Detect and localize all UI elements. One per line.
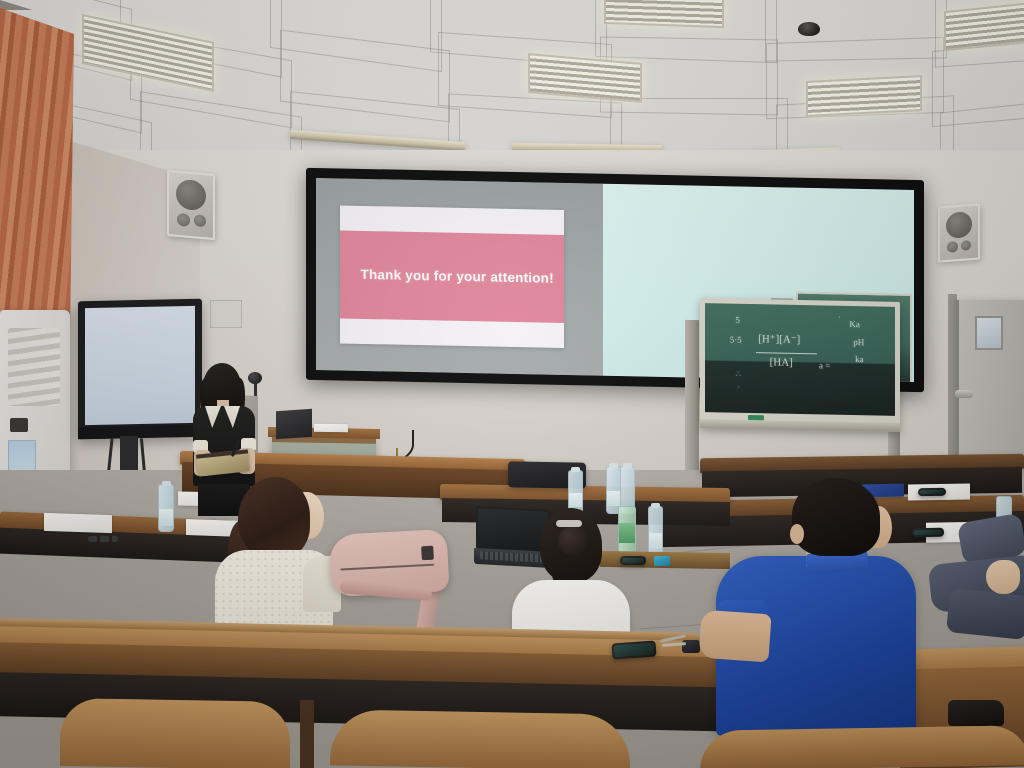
speaker-woofer-icon	[946, 211, 972, 239]
student3-hair	[792, 478, 880, 556]
speaker-tweeter-icon	[177, 213, 190, 227]
phone[interactable]	[611, 640, 656, 659]
water-bottle	[648, 506, 663, 556]
wall-access-panel	[210, 300, 242, 328]
phone[interactable]	[918, 488, 946, 496]
ac-control-panel[interactable]	[10, 418, 28, 432]
bottle-label	[619, 523, 635, 543]
chalk-mark: ∴	[735, 369, 741, 380]
paper	[314, 424, 348, 433]
chalk-text: ka	[855, 354, 864, 364]
chalk-text: 5	[735, 315, 740, 325]
phone[interactable]	[912, 528, 944, 538]
backpack-zipper	[340, 564, 434, 571]
speaker-tweeter-icon	[194, 214, 206, 227]
slide-accent-band: Thank you for your attention!	[340, 231, 564, 323]
wall-speaker	[167, 170, 215, 240]
chalk-text: [HA]	[770, 357, 793, 369]
presentation-slide: Thank you for your attention!	[340, 205, 564, 348]
backpack-tag-icon	[421, 546, 434, 561]
student3-forearm	[698, 610, 771, 663]
phone[interactable]	[620, 556, 646, 565]
paper	[44, 513, 112, 533]
presenter-laptop[interactable]	[276, 409, 312, 440]
student2-hair-bun	[558, 526, 588, 556]
chalk-mark: ·	[838, 312, 841, 321]
whiteboard-display	[85, 306, 195, 425]
seat-back	[330, 709, 630, 768]
chalk-text: Ka	[849, 319, 860, 329]
student2-hair-tie	[556, 520, 582, 527]
chalk-eraser	[748, 415, 764, 420]
ceiling-light-panel	[604, 0, 724, 28]
water-bottle-green	[618, 506, 636, 554]
classroom-scene: Thank you for your attention! [H⁺][A⁻] /…	[0, 0, 1024, 768]
interactive-whiteboard[interactable]	[78, 299, 202, 440]
blackboard-left-post	[685, 320, 699, 480]
wall-speaker	[938, 204, 980, 263]
chalk-text: 5·5	[730, 334, 742, 344]
door-handle-icon[interactable]	[955, 390, 973, 398]
speaker-tweeter-icon	[961, 240, 971, 251]
blackboard-frame: 5 5·5 [H⁺][A⁻] [HA] Ka pH ka a = · ∴ ·	[700, 298, 900, 432]
eyeglasses	[88, 536, 118, 542]
chalk-mark: ·	[737, 382, 740, 392]
desk-leg	[300, 700, 314, 768]
student1-hair	[238, 477, 310, 559]
student4-shoe	[948, 700, 1004, 726]
student4-hand	[986, 560, 1020, 594]
window-curtain	[0, 8, 75, 338]
seat-back	[60, 698, 290, 768]
projected-image-area: Thank you for your attention!	[316, 178, 603, 376]
slide-title-text: Thank you for your attention!	[340, 267, 553, 286]
smoke-detector-icon	[798, 22, 820, 36]
chalk-text: [H⁺][A⁻]	[758, 333, 800, 347]
speaker-tweeter-icon	[947, 241, 958, 253]
blackboard: 5 5·5 [H⁺][A⁻] [HA] Ka pH ka a = · ∴ ·	[700, 298, 900, 432]
door-window	[975, 316, 1003, 350]
ceiling-light-panel	[806, 75, 922, 117]
chalk-text: pH	[853, 337, 864, 347]
water-bottle	[158, 484, 174, 532]
microphone-icon	[248, 372, 262, 384]
small-object	[654, 556, 670, 566]
speaker-woofer-icon	[176, 179, 206, 212]
seat-back	[700, 725, 1024, 768]
ac-vent-grille	[8, 328, 60, 406]
student4-shin	[946, 588, 1024, 640]
student3-ear	[790, 524, 804, 544]
chalk-text: a =	[819, 360, 830, 370]
blackboard-surface: 5 5·5 [H⁺][A⁻] [HA] Ka pH ka a = · ∴ ·	[705, 303, 895, 416]
chalk-fraction-bar	[756, 352, 817, 354]
